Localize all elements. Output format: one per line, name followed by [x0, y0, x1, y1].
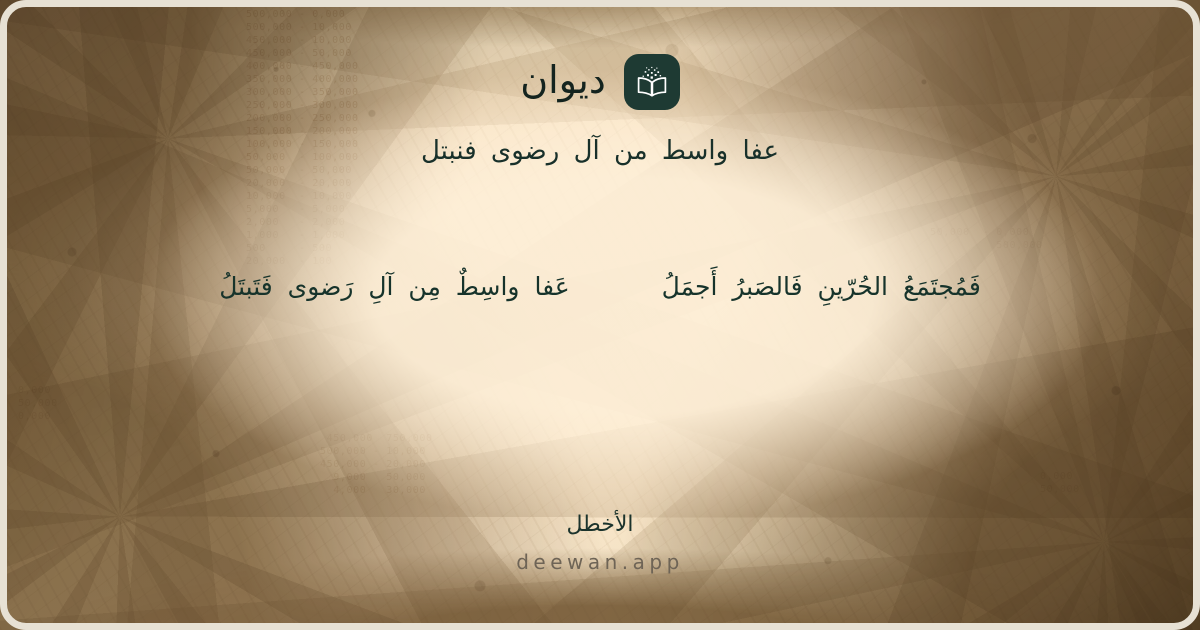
card-content: ديوان عفا واسط من آل رضوى فنبتل فَمُجتَم…: [0, 0, 1200, 630]
brand-name: ديوان: [520, 61, 606, 103]
brand-header: ديوان: [520, 54, 680, 110]
verse-first-hemistich: عَفا واسِطٌ مِن آلِ رَضوى فَتَبتَلُ: [219, 267, 569, 307]
card-footer: الأخطل deewan.app: [0, 511, 1200, 574]
deewan-logo: [624, 54, 680, 110]
verse-line: فَمُجتَمَعُ الحُرّينِ فَالصَبرُ أَجمَلُ …: [219, 267, 981, 307]
poem-title: عفا واسط من آل رضوى فنبتل: [421, 132, 779, 171]
poet-name: الأخطل: [0, 511, 1200, 540]
verse-block: فَمُجتَمَعُ الحُرّينِ فَالصَبرُ أَجمَلُ …: [0, 267, 1200, 307]
open-book-with-sparkles-icon: [634, 66, 670, 98]
site-url: deewan.app: [0, 550, 1200, 574]
verse-second-hemistich: فَمُجتَمَعُ الحُرّينِ فَالصَبرُ أَجمَلُ: [662, 267, 981, 307]
share-card: 0,000 - 500,000 10,000 - 500,000 10,000 …: [0, 0, 1200, 630]
